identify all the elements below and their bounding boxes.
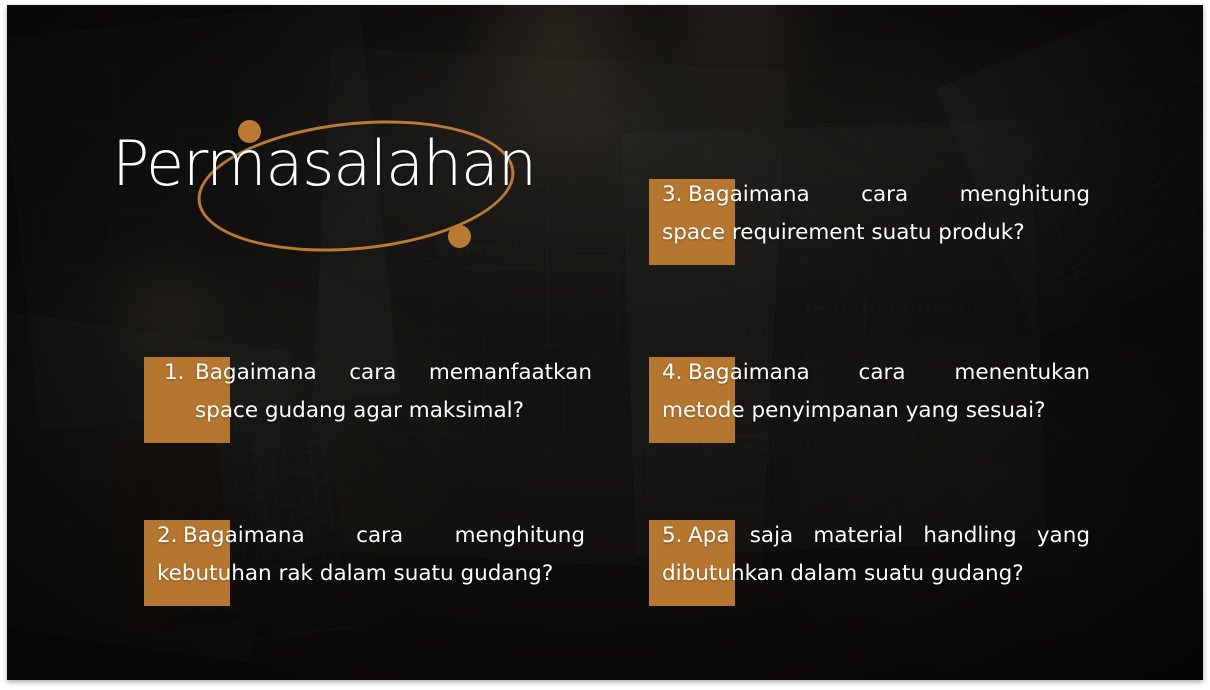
presentation-slide: Garage Deck Kitchen Family7.4 x 5.6 Dini…: [7, 5, 1203, 680]
question-item-4: 4.Bagaimana cara menentukan metode penyi…: [649, 354, 1089, 450]
question-number-5: 5.: [662, 517, 688, 555]
slide-title-block: Permasalahan: [112, 133, 582, 253]
question-text-1: 1.Bagaimana cara memanfaatkan space guda…: [164, 354, 592, 430]
question-number-4: 4.: [662, 354, 688, 392]
question-item-5: 5.Apa saja material handling yang dibutu…: [649, 517, 1089, 613]
question-line-1: Bagaimana cara menghitung: [688, 182, 1090, 207]
question-line-2: kebutuhan rak dalam suatu gudang?: [157, 555, 585, 593]
question-text-5: 5.Apa saja material handling yang dibutu…: [662, 517, 1090, 593]
question-line-1: Bagaimana cara menentukan: [688, 360, 1090, 385]
question-line-1: Bagaimana cara memanfaatkan: [195, 360, 592, 385]
page-title: Permasalahan: [112, 133, 536, 195]
slide-viewport: Garage Deck Kitchen Family7.4 x 5.6 Dini…: [0, 0, 1210, 690]
question-text-3: 3.Bagaimana cara menghitung space requir…: [662, 176, 1090, 252]
question-line-1: Bagaimana cara menghitung: [183, 523, 585, 548]
ellipse-dot-top-icon: [238, 120, 261, 143]
question-number-1: 1.: [164, 354, 195, 392]
ellipse-dot-bottom-icon: [448, 225, 471, 248]
question-line-2: metode penyimpanan yang sesuai?: [662, 392, 1090, 430]
question-number-3: 3.: [662, 176, 688, 214]
question-number-2: 2.: [157, 517, 183, 555]
question-line-1: Apa saja material handling yang: [688, 523, 1090, 548]
question-line-2: space gudang agar maksimal?: [164, 392, 592, 430]
question-line-2: space requirement suatu produk?: [662, 214, 1090, 252]
question-item-1: 1.Bagaimana cara memanfaatkan space guda…: [144, 354, 584, 450]
question-line-2: dibutuhkan dalam suatu gudang?: [662, 555, 1090, 593]
question-text-4: 4.Bagaimana cara menentukan metode penyi…: [662, 354, 1090, 430]
question-item-3: 3.Bagaimana cara menghitung space requir…: [649, 176, 1089, 272]
question-text-2: 2.Bagaimana cara menghitung kebutuhan ra…: [157, 517, 585, 593]
question-item-2: 2.Bagaimana cara menghitung kebutuhan ra…: [144, 517, 584, 613]
